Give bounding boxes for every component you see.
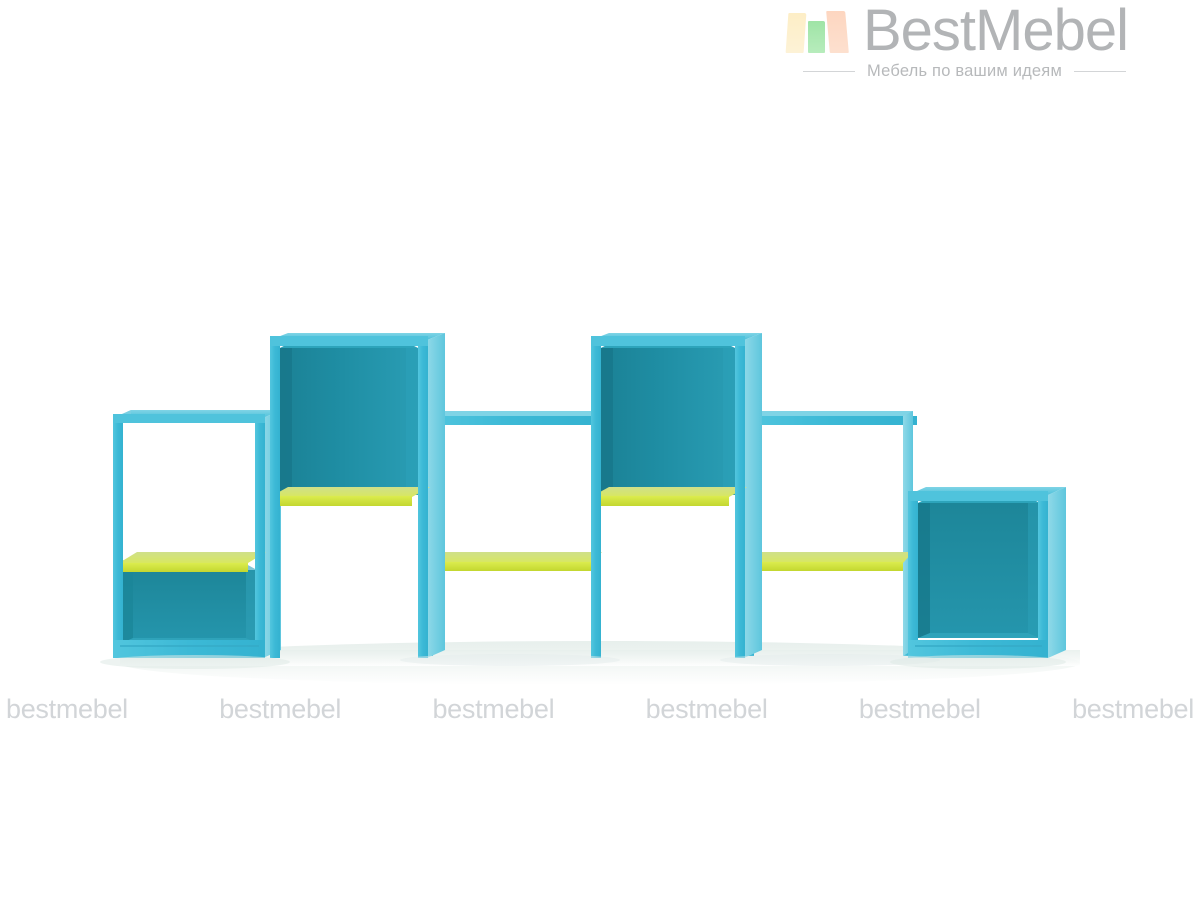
m1-shelf-top <box>119 552 266 563</box>
shelving-unit-illustration <box>0 0 1200 900</box>
watermark-5: bestmebel <box>859 694 981 728</box>
contact-shadow-1 <box>100 655 290 669</box>
module-1-low-cabinet[interactable] <box>113 410 281 658</box>
m6-top-panel <box>908 491 1048 501</box>
m1-shelf-front <box>119 563 248 572</box>
m4-right-depth <box>744 333 762 658</box>
m4-shelf-front <box>591 496 729 506</box>
m2-interior-right <box>406 342 418 495</box>
m1-upper-opening <box>122 420 257 560</box>
m3-shelf-front <box>428 562 592 571</box>
watermark-row: bestmebel bestmebel bestmebel bestmebel … <box>0 694 1200 728</box>
m4-interior-back <box>601 348 735 495</box>
product-image-canvas: BestMebel Мебель по вашим идеям <box>0 0 1200 900</box>
module-6-low-cabinet[interactable] <box>908 487 1066 658</box>
m2-top-panel <box>270 336 428 346</box>
m3-shelf-top <box>428 552 602 563</box>
m4-interior-left <box>601 342 613 495</box>
m4-top-panel <box>591 336 745 346</box>
m6-interior-back <box>918 503 1040 638</box>
module-2-tall-open-box[interactable] <box>270 333 445 658</box>
watermark-6: bestmebel <box>1072 694 1194 728</box>
watermark-4: bestmebel <box>646 694 768 728</box>
module-3-open-frame[interactable] <box>424 411 602 656</box>
m5-top-panel <box>745 416 917 425</box>
m1-plinth-line <box>120 645 259 647</box>
module-4-tall-open-box[interactable] <box>591 333 762 658</box>
m3-top-panel <box>424 416 600 425</box>
m6-plinth-line <box>915 645 1042 647</box>
m1-left-panel <box>113 414 123 658</box>
m1-lower-interior-back <box>122 570 257 643</box>
m5-shelf-front <box>749 562 903 571</box>
m2-interior-left <box>280 342 292 495</box>
m6-right-depth <box>1048 487 1066 658</box>
m6-right-panel <box>1038 491 1048 658</box>
m6-left-panel <box>908 491 918 658</box>
m4-shelf-top <box>591 487 747 497</box>
m5-shelf-top <box>749 552 913 563</box>
contact-shadow-6 <box>890 655 1066 669</box>
m6-interior-bottom <box>918 633 1040 638</box>
module-5-open-frame[interactable] <box>745 411 917 656</box>
m2-right-panel <box>418 336 428 658</box>
m1-lower-interior-left <box>122 564 133 643</box>
m4-interior-right <box>723 342 735 495</box>
watermark-3: bestmebel <box>432 694 554 728</box>
m4-right-panel <box>735 336 745 658</box>
product-render <box>0 0 1200 900</box>
m4-left-panel <box>591 336 601 658</box>
watermark-1: bestmebel <box>6 694 128 728</box>
watermark-2: bestmebel <box>219 694 341 728</box>
m1-top-panel <box>113 414 265 423</box>
m2-right-depth <box>427 333 445 658</box>
contact-shadow-3 <box>400 654 620 666</box>
m2-left-panel <box>270 336 280 658</box>
m6-interior-left <box>918 497 930 638</box>
m2-shelf-front <box>270 496 412 506</box>
m2-interior-back <box>280 348 418 495</box>
m1-right-panel <box>255 414 265 658</box>
m2-shelf-top <box>270 487 430 497</box>
